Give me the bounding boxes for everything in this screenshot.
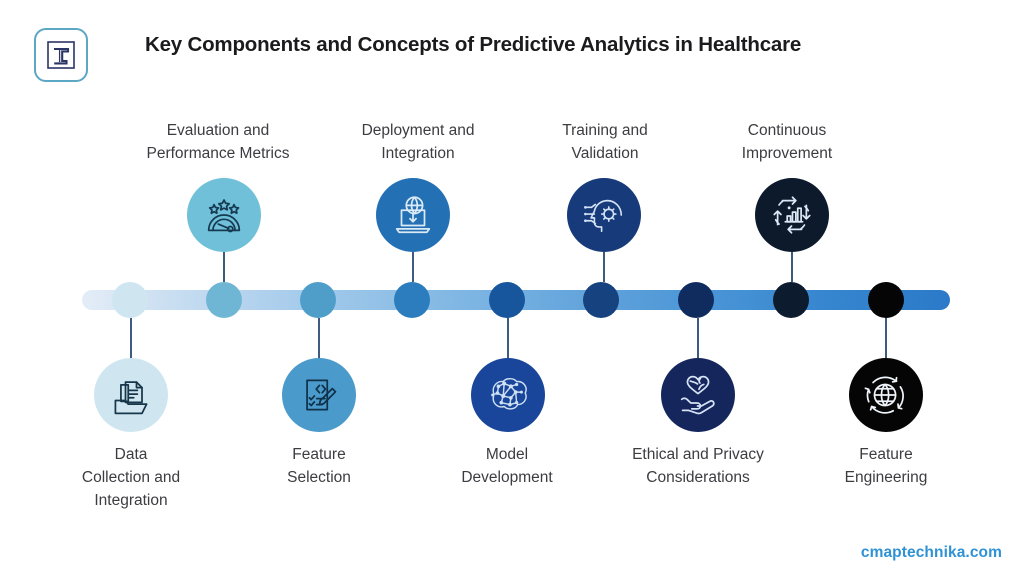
hand-heart-globe-icon[interactable]	[661, 358, 735, 432]
connector-stem	[223, 252, 225, 282]
globe-cycle-icon[interactable]	[849, 358, 923, 432]
timeline-node-dot[interactable]	[206, 282, 242, 318]
connector-stem	[412, 252, 414, 282]
timeline-node-dot[interactable]	[394, 282, 430, 318]
timeline-node-dot[interactable]	[300, 282, 336, 318]
connector-stem	[885, 318, 887, 358]
timeline-node-dot[interactable]	[583, 282, 619, 318]
gauge-stars-icon[interactable]	[187, 178, 261, 252]
tech-t-logo-icon	[34, 28, 88, 82]
folder-documents-icon[interactable]	[94, 358, 168, 432]
timeline-node-label: Continuous Improvement	[672, 120, 902, 166]
timeline-node-dot[interactable]	[868, 282, 904, 318]
timeline-node-dot[interactable]	[678, 282, 714, 318]
timeline-node-dot[interactable]	[489, 282, 525, 318]
timeline-node-dot[interactable]	[112, 282, 148, 318]
timeline-node-label: Evaluation and Performance Metrics	[103, 120, 333, 166]
timeline-node-label: Feature Engineering	[771, 444, 1001, 490]
code-checklist-pencil-icon[interactable]	[282, 358, 356, 432]
infographic-canvas: Key Components and Concepts of Predictiv…	[0, 0, 1024, 580]
neural-brain-icon[interactable]	[471, 358, 545, 432]
connector-stem	[603, 252, 605, 282]
connector-stem	[791, 252, 793, 282]
ai-head-gear-icon[interactable]	[567, 178, 641, 252]
connector-stem	[697, 318, 699, 358]
connector-stem	[130, 318, 132, 358]
laptop-globe-download-icon[interactable]	[376, 178, 450, 252]
watermark-link[interactable]: cmaptechnika.com	[861, 544, 1002, 562]
page-title: Key Components and Concepts of Predictiv…	[145, 33, 885, 57]
connector-stem	[507, 318, 509, 358]
connector-stem	[318, 318, 320, 358]
refresh-chart-cycle-icon[interactable]	[755, 178, 829, 252]
timeline-node-dot[interactable]	[773, 282, 809, 318]
